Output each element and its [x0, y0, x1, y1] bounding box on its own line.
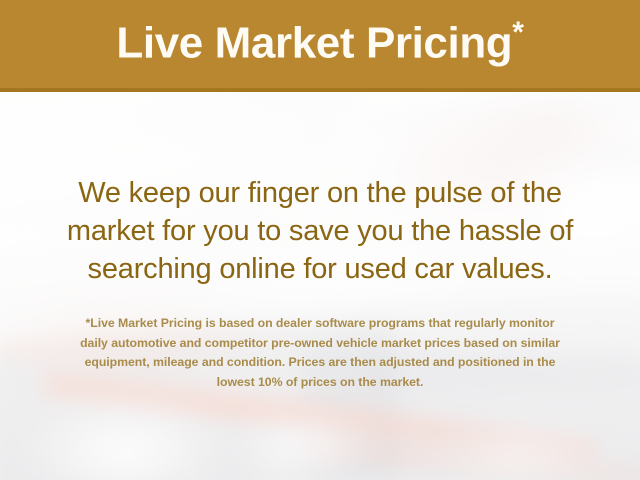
disclaimer-line: equipment, mileage and condition. Prices… — [28, 353, 612, 373]
live-market-pricing-slide: Live Market Pricing* We keep our finger … — [0, 0, 640, 480]
disclaimer-line: *Live Market Pricing is based on dealer … — [28, 314, 612, 334]
disclaimer-line: lowest 10% of prices on the market. — [28, 373, 612, 393]
content-area: We keep our finger on the pulse of the m… — [0, 92, 640, 480]
tagline-line: market for you to save you the hassle of — [0, 212, 640, 250]
page-title: Live Market Pricing* — [116, 18, 523, 66]
tagline-line: searching online for used car values. — [0, 250, 640, 288]
tagline: We keep our finger on the pulse of the m… — [0, 174, 640, 288]
tagline-line: We keep our finger on the pulse of the — [0, 174, 640, 212]
page-title-text: Live Market Pricing — [116, 19, 512, 68]
disclaimer-footnote: *Live Market Pricing is based on dealer … — [28, 314, 612, 392]
page-title-asterisk: * — [512, 16, 523, 49]
header-banner: Live Market Pricing* — [0, 0, 640, 92]
disclaimer-line: daily automotive and competitor pre-owne… — [28, 334, 612, 354]
